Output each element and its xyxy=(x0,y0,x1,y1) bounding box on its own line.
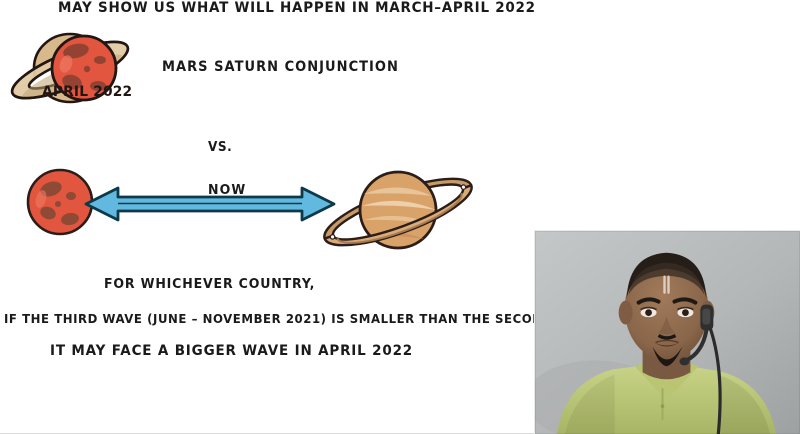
presentation-slide-screen: MAY SHOW US WHAT WILL HAPPEN IN MARCH–AP… xyxy=(0,0,800,434)
presenter-webcam-overlay[interactable] xyxy=(534,230,800,434)
slide-subtitle: MARS SATURN CONJUNCTION xyxy=(162,59,399,75)
mars-saturn-conjunction-icon: APRIL 2022 xyxy=(8,24,156,110)
slide-title: MAY SHOW US WHAT WILL HAPPEN IN MARCH–AP… xyxy=(58,0,536,16)
saturn-planet-icon xyxy=(312,158,484,262)
double-headed-distance-arrow xyxy=(84,183,336,225)
conclusion-line-3: IT MAY FACE A BIGGER WAVE IN APRIL 2022 xyxy=(50,343,413,359)
conclusion-line-2: IF THE THIRD WAVE (JUNE – NOVEMBER 2021)… xyxy=(4,311,564,326)
comparison-label: VS. xyxy=(208,140,232,155)
conclusion-line-1: FOR WHICHEVER COUNTRY, xyxy=(104,276,315,292)
